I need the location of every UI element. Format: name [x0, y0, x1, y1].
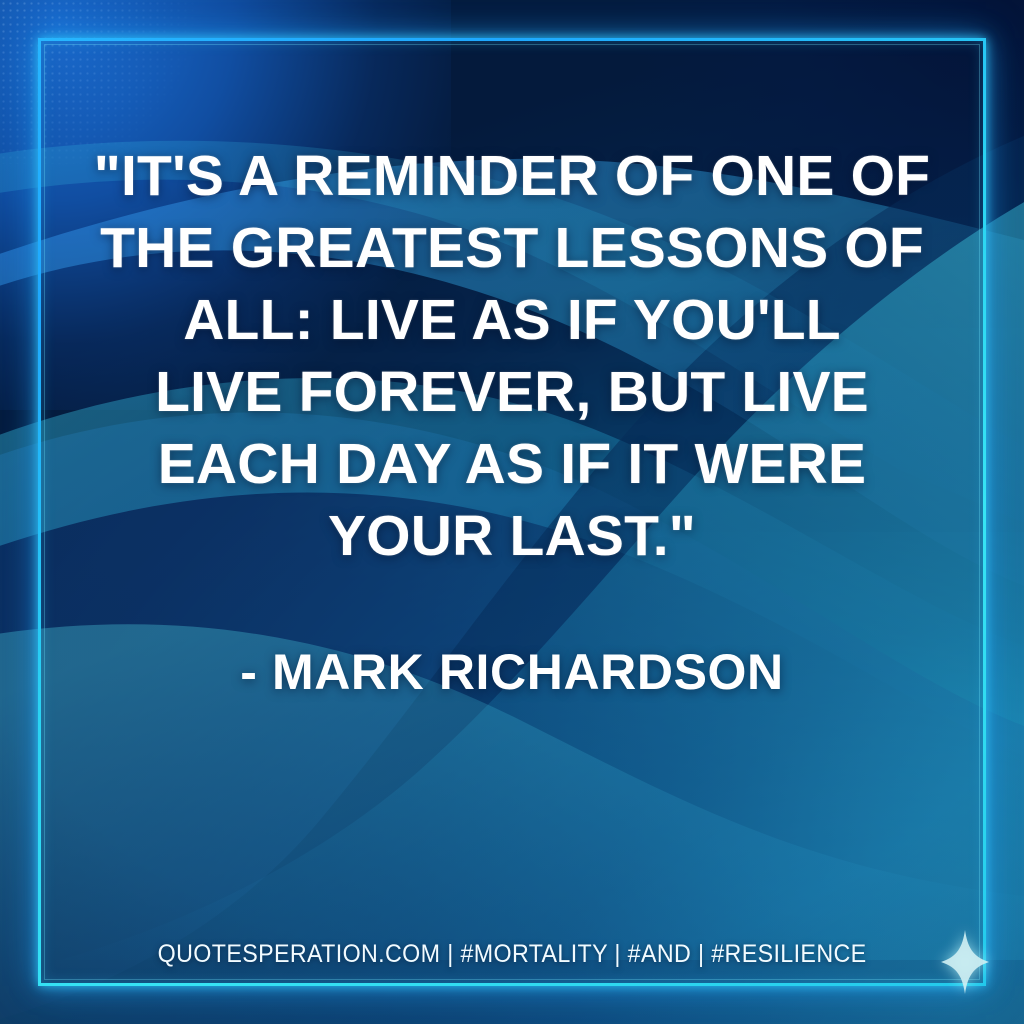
quote-line-1: "IT'S A REMINDER OF ONE OF: [70, 140, 954, 212]
quote-line-3: ALL: LIVE AS IF YOU'LL: [70, 284, 954, 356]
quote-card: "IT'S A REMINDER OF ONE OF THE GREATEST …: [0, 0, 1024, 1024]
author-attribution: - MARK RICHARDSON: [70, 642, 954, 702]
quote-line-4: LIVE FOREVER, BUT LIVE: [70, 356, 954, 428]
footer-credit-text: QUOTESPERATION.COM | #MORTALITY | #AND |…: [158, 940, 867, 969]
quote-line-5: EACH DAY AS IF IT WERE: [70, 428, 954, 500]
sparkle-icon: [941, 930, 989, 994]
quote-line-6: YOUR LAST.": [70, 500, 954, 572]
footer-bar: QUOTESPERATION.COM | #MORTALITY | #AND |…: [70, 940, 954, 969]
quote-block: "IT'S A REMINDER OF ONE OF THE GREATEST …: [70, 140, 954, 702]
quote-line-2: THE GREATEST LESSONS OF: [70, 212, 954, 284]
